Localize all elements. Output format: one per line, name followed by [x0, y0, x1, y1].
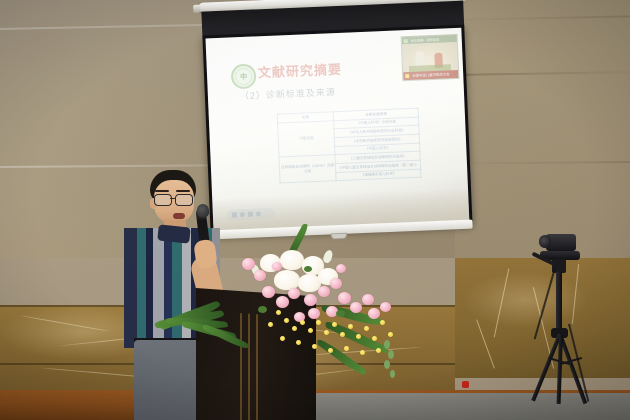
screen-pull-handle[interactable]: [331, 233, 347, 240]
pip-badge-icon: [405, 74, 409, 78]
floral-arrangement: [218, 248, 408, 388]
video-pip-window[interactable]: 会议直播 · 视频连线 全国中医儿童中医药大会: [401, 34, 460, 81]
speaker-brow-right: [176, 190, 190, 192]
pink-rose: [368, 308, 380, 319]
lily-bud: [322, 249, 334, 264]
pink-rose: [380, 302, 391, 312]
camera-lens-icon: [539, 235, 551, 248]
microphone-head-icon: [196, 203, 210, 218]
pip-bottom-caption-bar: 全国中医儿童中医药大会: [403, 70, 458, 80]
projected-slide: 中 文献研究摘要 （2）诊断标准及来源 名称 诊断标准来源 中医诊断 《中医儿科…: [205, 28, 469, 233]
pink-rose: [304, 294, 317, 306]
red-floor-marker: [462, 381, 469, 388]
pink-rose: [330, 278, 342, 289]
row-category-tcm: 中医诊断: [278, 120, 336, 157]
pink-rose: [288, 288, 300, 299]
pink-rose: [350, 302, 362, 313]
speaker-brow-left: [155, 190, 169, 192]
pip-bottom-caption: 全国中医儿童中医药大会: [412, 72, 449, 79]
pink-rose: [254, 270, 266, 281]
pink-rose: [262, 286, 275, 298]
pink-rose: [272, 262, 282, 271]
pink-rose: [308, 308, 320, 319]
speaker-mouth: [173, 213, 185, 219]
row-category-adhd: 注意缺陷多动障碍（ADHD）西医诊断: [279, 155, 336, 183]
roller-end-cap-left: [193, 5, 200, 13]
pink-rose: [276, 296, 289, 308]
pink-rose: [336, 264, 346, 273]
pip-live-dot-icon: [404, 39, 408, 43]
slide-title: 文献研究摘要: [258, 59, 343, 82]
presentation-photo: 中 文献研究摘要 （2）诊断标准及来源 名称 诊断标准来源 中医诊断 《中医儿科…: [0, 0, 630, 420]
eyeglasses-lens-left: [154, 194, 172, 206]
camera-tripod-rig: [528, 228, 604, 406]
orchid-floret: [276, 310, 281, 315]
tripod-center-column: [556, 272, 562, 334]
pink-rose: [318, 286, 330, 297]
seal-glyph: 中: [240, 71, 247, 81]
white-lily: [280, 250, 304, 270]
pink-rose: [338, 292, 351, 304]
pink-rose: [362, 294, 374, 305]
institution-seal-icon: 中: [231, 63, 257, 89]
diagnostic-criteria-table: 名称 诊断标准来源 中医诊断 《中医儿科学》诊断标准 《中华人民共和国中医药行业…: [277, 108, 422, 184]
pink-rose: [242, 258, 255, 270]
speaker-collar: [157, 224, 190, 243]
slide-subtitle: （2）诊断标准及来源: [240, 85, 336, 102]
wall-right-panel: [455, 0, 630, 260]
eyeglasses-lens-right: [175, 194, 193, 206]
white-lily: [274, 270, 300, 290]
trailing-greenery: [384, 340, 390, 349]
pip-video-frame: [402, 42, 458, 72]
eyeglasses-bridge: [170, 198, 175, 199]
